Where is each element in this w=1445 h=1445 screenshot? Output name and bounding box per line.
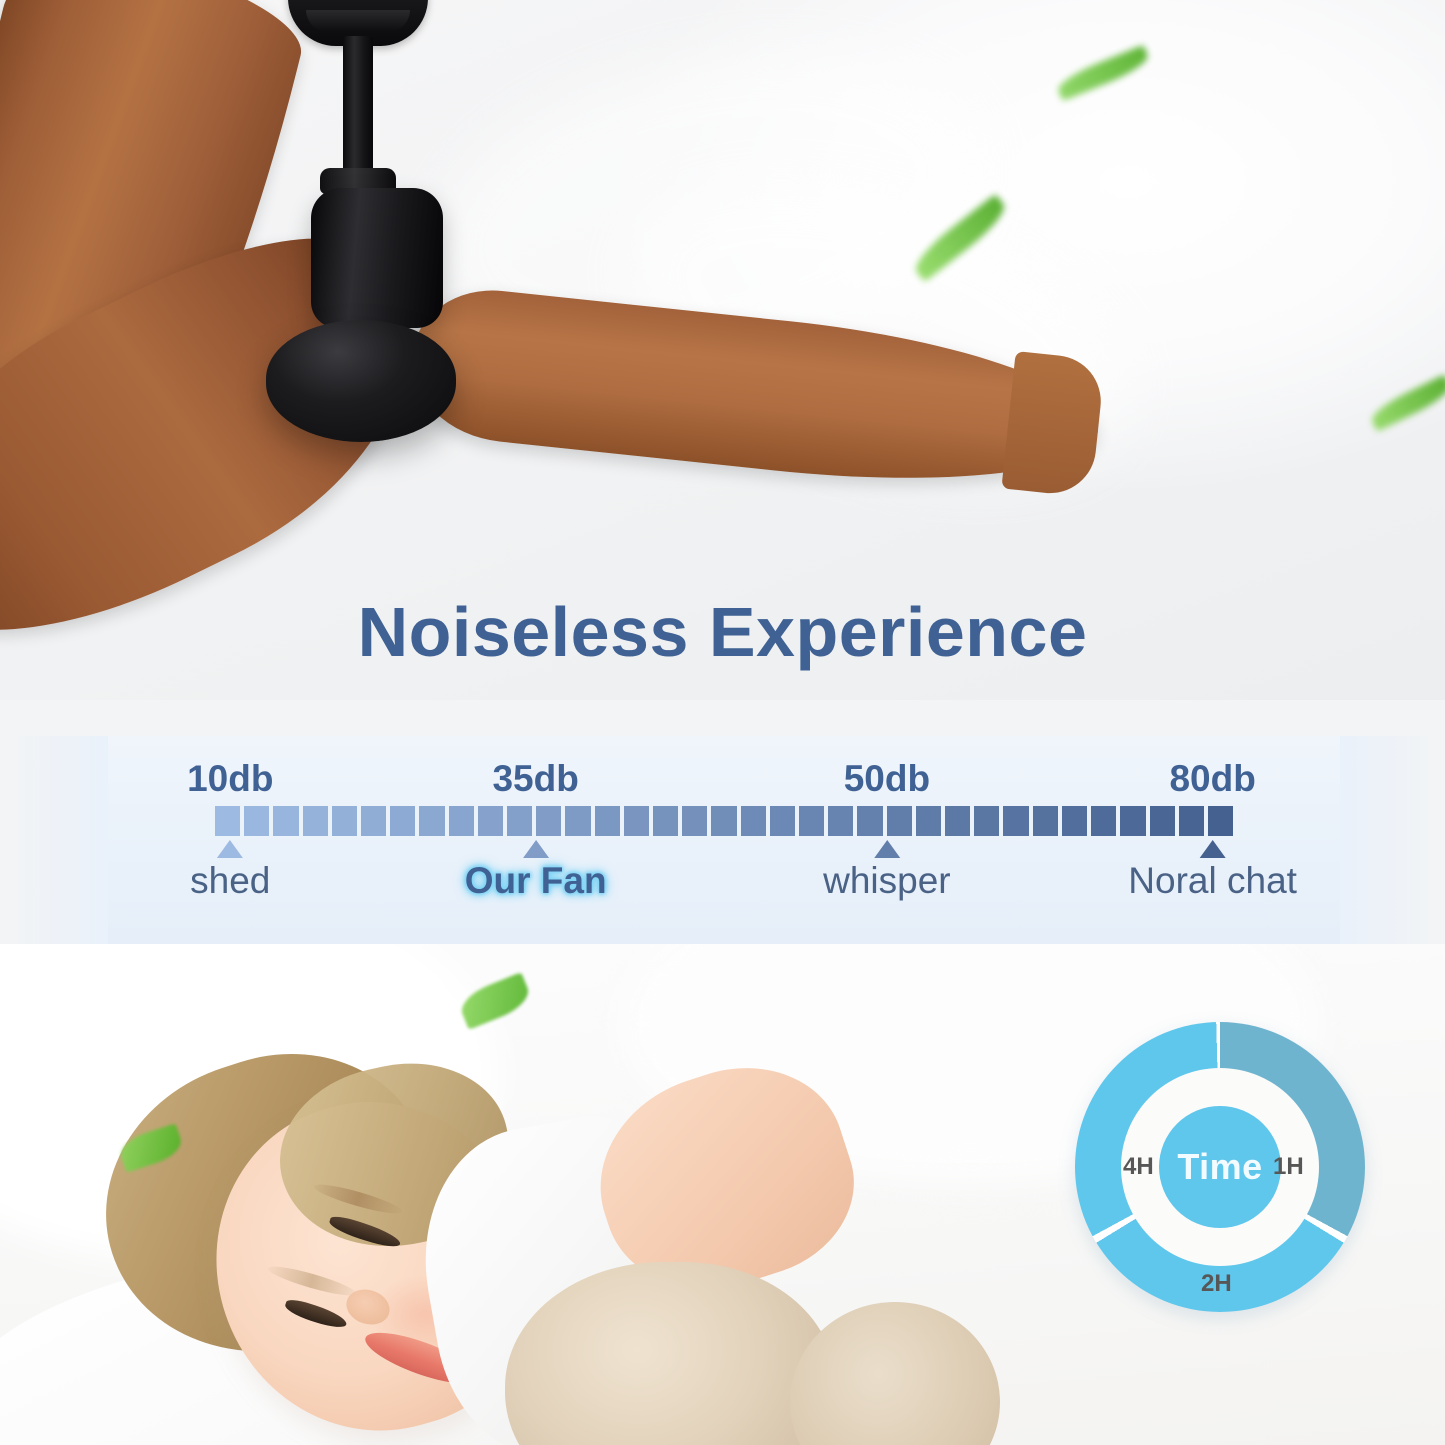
noise-gradient-cell	[478, 806, 503, 836]
timer-dial[interactable]: Time 1H 2H 4H	[1075, 1022, 1365, 1312]
noise-tick-label: 50db	[844, 758, 930, 800]
noise-gradient-cell	[857, 806, 882, 836]
noise-gradient-cell	[916, 806, 941, 836]
page-title: Noiseless Experience	[0, 592, 1445, 672]
noise-gradient-cell	[244, 806, 269, 836]
noise-gradient-cell	[303, 806, 328, 836]
noise-marker: Noral chat	[1128, 840, 1297, 899]
noise-marker-label: Noral chat	[1128, 862, 1297, 899]
noise-gradient-cell	[682, 806, 707, 836]
noise-gradient-cell	[770, 806, 795, 836]
noise-marker-label: shed	[190, 862, 270, 899]
noise-marker: Our Fan	[465, 840, 607, 899]
noise-gradient-cell	[536, 806, 561, 836]
timer-label-4h: 4H	[1123, 1153, 1154, 1181]
noise-gradient-cell	[1003, 806, 1028, 836]
noise-tick-label: 10db	[187, 758, 273, 800]
timer-label-1h: 1H	[1273, 1153, 1304, 1181]
noise-gradient-cell	[449, 806, 474, 836]
noise-gradient-cell	[799, 806, 824, 836]
fan-downrod	[343, 36, 373, 176]
noise-gradient-cell	[419, 806, 444, 836]
noise-tick-label: 35db	[492, 758, 578, 800]
noise-gradient-cell	[1033, 806, 1058, 836]
noise-gradient-cell	[1120, 806, 1145, 836]
noise-gradient-cell	[595, 806, 620, 836]
noise-scale-tick-labels: 10db35db50db80db	[215, 758, 1233, 798]
noise-scale-markers: shedOur FanwhisperNoral chat	[215, 840, 1233, 936]
noise-gradient-cell	[273, 806, 298, 836]
noise-gradient-cell	[974, 806, 999, 836]
noise-gradient-cell	[361, 806, 386, 836]
noise-gradient-cell	[653, 806, 678, 836]
fan-hub-disc	[266, 320, 456, 442]
teddy-bear-head	[790, 1302, 1000, 1445]
noise-gradient-cell	[1179, 806, 1204, 836]
triangle-marker-icon	[1200, 840, 1226, 858]
timer-center-label: Time	[1177, 1146, 1262, 1188]
noise-marker-label: whisper	[823, 862, 951, 899]
noise-gradient-cell	[711, 806, 736, 836]
noise-gradient-cell	[215, 806, 240, 836]
noise-gradient-cell	[507, 806, 532, 836]
fan-motor-housing	[311, 188, 443, 328]
noise-gradient-cell	[1208, 806, 1233, 836]
noise-gradient-bar	[215, 806, 1233, 836]
triangle-marker-icon	[874, 840, 900, 858]
noise-gradient-cell	[887, 806, 912, 836]
noise-gradient-cell	[332, 806, 357, 836]
noise-gradient-cell	[390, 806, 415, 836]
noise-tick-label: 80db	[1169, 758, 1255, 800]
noise-gradient-cell	[945, 806, 970, 836]
leaf-icon	[1368, 374, 1445, 431]
noise-marker: whisper	[823, 840, 951, 899]
noise-marker-label: Our Fan	[465, 862, 607, 899]
product-marketing-banner: Noiseless Experience 10db35db50db80db sh…	[0, 0, 1445, 1445]
timer-center: Time	[1159, 1106, 1281, 1228]
noise-gradient-cell	[1062, 806, 1087, 836]
triangle-marker-icon	[217, 840, 243, 858]
noise-gradient-cell	[565, 806, 590, 836]
noise-gradient-cell	[741, 806, 766, 836]
noise-gradient-cell	[828, 806, 853, 836]
triangle-marker-icon	[523, 840, 549, 858]
noise-gradient-cell	[1150, 806, 1175, 836]
noise-gradient-cell	[1091, 806, 1116, 836]
noise-gradient-cell	[624, 806, 649, 836]
noise-marker: shed	[190, 840, 270, 899]
timer-label-2h: 2H	[1201, 1270, 1232, 1298]
leaf-icon	[1054, 45, 1151, 101]
